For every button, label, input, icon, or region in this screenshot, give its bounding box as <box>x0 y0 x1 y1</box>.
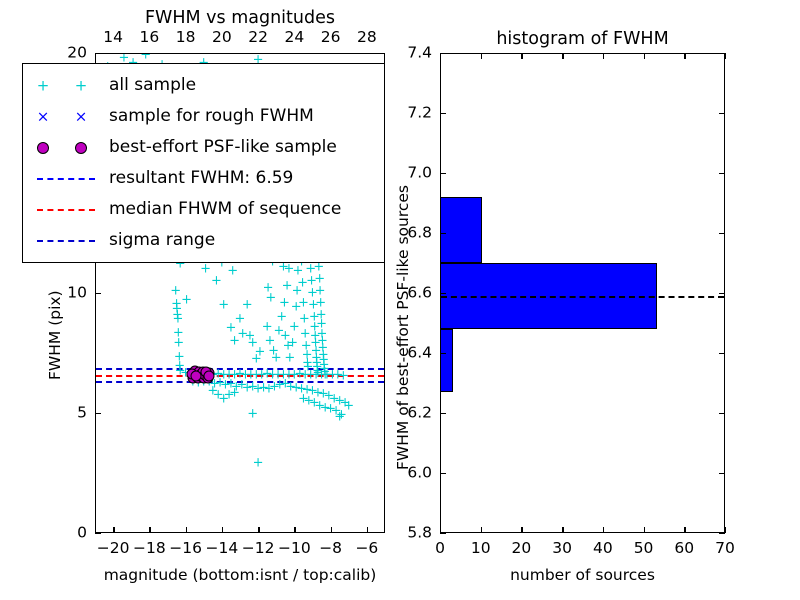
scatter-point: + <box>310 330 321 343</box>
legend-item-0[interactable]: ++all sample <box>23 70 384 101</box>
legend-item-label: best-effort PSF-like sample <box>109 139 337 156</box>
scatter-point: + <box>263 282 274 295</box>
scatter-point: + <box>298 392 309 405</box>
scatter-point: + <box>173 326 184 339</box>
scatter-point: + <box>307 385 318 398</box>
scatter-top-tick-label: 18 <box>176 30 196 46</box>
plus-icon: ++ <box>23 70 109 101</box>
scatter-panel-title: FWHM vs magnitudes <box>95 10 385 28</box>
histogram-y-tick-mark-right <box>719 173 725 174</box>
scatter-point: + <box>334 395 345 408</box>
scatter-point: + <box>280 330 291 343</box>
scatter-point: + <box>310 337 321 350</box>
scatter-point: + <box>229 335 240 348</box>
scatter-top-tick-label: 28 <box>357 30 377 46</box>
histogram-x-tick-label: 10 <box>471 541 491 557</box>
scatter-hline-median-fhwm-of-sequence <box>96 375 384 377</box>
histogram-y-tick-mark-right <box>719 473 725 474</box>
scatter-x-tick-mark <box>222 527 223 533</box>
scatter-y-tick-label: 0 <box>77 525 87 541</box>
scatter-point: + <box>297 277 308 290</box>
scatter-point: + <box>283 263 294 276</box>
scatter-point: + <box>172 308 183 321</box>
dashed-line-icon <box>37 178 95 180</box>
scatter-point: + <box>301 339 312 352</box>
scatter-point: + <box>309 311 320 324</box>
histogram-y-tick-mark <box>440 173 446 174</box>
scatter-point: + <box>264 335 275 348</box>
scatter-point: + <box>298 296 309 309</box>
scatter-x-axis-label: magnitude (bottom:isnt / top:calib) <box>95 568 385 584</box>
scatter-point: + <box>292 284 303 297</box>
scatter-point: + <box>305 263 316 276</box>
histogram-y-tick-mark <box>440 233 446 234</box>
scatter-y-tick-mark <box>95 293 101 294</box>
histogram-y-tick-mark-right <box>719 113 725 114</box>
scatter-point: + <box>274 325 285 338</box>
scatter-top-tick-label: 24 <box>285 30 305 46</box>
histogram-bar <box>441 197 482 263</box>
circle-icon <box>37 142 49 154</box>
scatter-point: + <box>336 409 347 422</box>
scatter-top-tick-label: 20 <box>212 30 232 46</box>
scatter-point: + <box>316 318 327 331</box>
scatter-point: + <box>318 387 329 400</box>
scatter-x-tick-label: −16 <box>169 541 202 557</box>
histogram-x-tick-label: 40 <box>593 541 613 557</box>
legend-item-label: sigma range <box>109 232 215 249</box>
scatter-point: + <box>293 265 304 278</box>
histogram-y-tick-mark-right <box>719 353 725 354</box>
histogram-x-axis-label: number of sources <box>440 568 725 584</box>
scatter-point: + <box>258 381 269 394</box>
scatter-y-tick-label: 5 <box>77 405 87 421</box>
scatter-point: + <box>314 399 325 412</box>
histogram-x-tick-mark-top <box>684 53 685 59</box>
plus-icon: + <box>37 78 50 93</box>
scatter-point: + <box>171 297 182 310</box>
circle-icon <box>75 142 87 154</box>
histogram-x-tick-mark-top <box>481 53 482 59</box>
scatter-top-tick-label: 26 <box>321 30 341 46</box>
scatter-point: + <box>311 351 322 364</box>
scatter-point: + <box>303 395 314 408</box>
scatter-y-tick-mark <box>95 413 101 414</box>
scatter-x-tick-label: −8 <box>319 541 342 557</box>
histogram-x-tick-label: 50 <box>634 541 654 557</box>
legend-item-label: median FHWM of sequence <box>109 201 341 218</box>
histogram-x-tick-mark-top <box>644 53 645 59</box>
scatter-point: + <box>225 321 236 334</box>
histogram-x-tick-mark-top <box>521 53 522 59</box>
scatter-point: + <box>323 390 334 403</box>
histogram-x-tick-label: 70 <box>715 541 735 557</box>
legend-item-label: resultant FWHM: 6.59 <box>109 170 293 187</box>
scatter-top-tick-label: 16 <box>140 30 160 46</box>
scatter-point: + <box>218 299 229 312</box>
scatter-point: + <box>289 320 300 333</box>
scatter-point: + <box>308 299 319 312</box>
scatter-point: + <box>276 311 287 324</box>
histogram-y-axis-label: FWHM of best-effort PSF-like sources <box>396 185 412 470</box>
scatter-x-tick-label: −6 <box>355 541 378 557</box>
scatter-point: + <box>284 351 295 364</box>
histogram-x-tick-label: 20 <box>512 541 532 557</box>
histogram-x-tick-label: 60 <box>674 541 694 557</box>
scatter-point: + <box>229 386 240 399</box>
histogram-y-tick-mark-right <box>719 233 725 234</box>
scatter-x-tick-mark <box>149 527 150 533</box>
scatter-point: + <box>237 327 248 340</box>
dashed-line-icon <box>37 209 95 211</box>
legend-item-5[interactable]: sigma range <box>23 225 384 256</box>
scatter-point: + <box>225 378 236 391</box>
dashdot-line-icon <box>37 240 95 242</box>
histogram-x-tick-mark <box>521 527 522 533</box>
scatter-x-tick-label: −20 <box>97 541 130 557</box>
scatter-point: + <box>343 399 354 412</box>
scatter-point: + <box>235 313 246 326</box>
scatter-point: + <box>251 353 262 366</box>
histogram-x-tick-mark-top <box>562 53 563 59</box>
histogram-y-tick-label: 7.4 <box>407 45 432 61</box>
histogram-y-tick-mark <box>440 113 446 114</box>
scatter-x-tick-mark <box>294 527 295 533</box>
scatter-point: + <box>140 54 151 62</box>
scatter-point: + <box>306 275 317 288</box>
scatter-point: + <box>207 385 218 398</box>
scatter-y-axis-label: FWHM (pix) <box>48 290 64 380</box>
scatter-point: + <box>315 284 326 297</box>
scatter-point: + <box>227 265 238 278</box>
histogram-y-tick-mark <box>440 293 446 294</box>
scatter-point: + <box>299 313 310 326</box>
scatter-point: + <box>309 320 320 333</box>
scatter-point: + <box>291 381 302 394</box>
histogram-panel-title: histogram of FWHM <box>440 31 725 49</box>
scatter-point: + <box>218 392 229 405</box>
scatter-point: + <box>242 299 253 312</box>
scatter-point: + <box>247 408 258 421</box>
scatter-point: + <box>314 272 325 285</box>
scatter-point: + <box>287 337 298 350</box>
scatter-x-tick-label: −10 <box>278 541 311 557</box>
histogram-y-tick-mark <box>440 473 446 474</box>
scatter-point: + <box>174 360 185 373</box>
histogram-x-tick-mark <box>481 527 482 533</box>
histogram-y-tick-mark-right <box>719 413 725 414</box>
scatter-point: + <box>213 389 224 402</box>
histogram-median-line <box>441 296 724 298</box>
histogram-x-tick-mark <box>603 527 604 533</box>
histogram-y-tick-mark-right <box>719 293 725 294</box>
cross-icon: × <box>75 109 88 124</box>
scatter-point: + <box>318 354 329 367</box>
dashdot-line-icon <box>23 225 109 256</box>
scatter-point: + <box>315 296 326 309</box>
histogram-x-tick-mark <box>644 527 645 533</box>
scatter-point: + <box>280 378 291 391</box>
dashed-line-icon <box>23 163 109 194</box>
histogram-bar <box>441 329 453 392</box>
scatter-point: + <box>320 402 331 415</box>
scatter-x-tick-mark <box>113 527 114 533</box>
scatter-y-tick-label: 10 <box>67 285 87 301</box>
scatter-point: + <box>331 404 342 417</box>
legend-item-label: sample for rough FWHM <box>109 108 314 125</box>
scatter-top-tick-label: 22 <box>248 30 268 46</box>
histogram-x-tick-mark <box>684 527 685 533</box>
scatter-point: + <box>279 296 290 309</box>
scatter-point: + <box>317 342 328 355</box>
scatter-point: + <box>253 457 264 470</box>
scatter-point: + <box>200 263 211 276</box>
scatter-x-tick-mark <box>331 527 332 533</box>
scatter-point: + <box>325 403 336 416</box>
scatter-point: + <box>271 351 282 364</box>
scatter-point: + <box>209 378 220 391</box>
scatter-point: + <box>173 313 184 326</box>
histogram-y-tick-mark-right <box>719 533 725 534</box>
scatter-x-tick-label: −18 <box>133 541 166 557</box>
scatter-point: + <box>245 330 256 343</box>
scatter-point: + <box>265 291 276 304</box>
figure-canvas: FWHM vs magnitudes 1416182022242628 ++++… <box>0 0 800 600</box>
scatter-x-tick-label: −14 <box>206 541 239 557</box>
scatter-point: + <box>329 392 340 405</box>
histogram-y-tick-label: 5.8 <box>407 525 432 541</box>
scatter-point: + <box>302 384 313 397</box>
scatter-point: + <box>242 381 253 394</box>
legend-box[interactable]: ++all sample××sample for rough FWHMbest-… <box>22 63 385 263</box>
histogram-y-tick-mark <box>440 533 446 534</box>
plus-icon: + <box>75 78 88 93</box>
histogram-x-tick-mark <box>440 527 441 533</box>
cross-icon: ×× <box>23 101 109 132</box>
histogram-data-area <box>441 54 724 532</box>
scatter-point: + <box>282 279 293 292</box>
scatter-point: + <box>300 327 311 340</box>
histogram-x-tick-mark-top <box>440 53 441 59</box>
scatter-x-tick-mark <box>186 527 187 533</box>
histogram-x-tick-mark-top <box>603 53 604 59</box>
scatter-x-tick-mark <box>367 527 368 533</box>
histogram-x-tick-mark-top <box>725 53 726 59</box>
legend-item-2[interactable]: best-effort PSF-like sample <box>23 132 384 163</box>
scatter-point: + <box>334 410 345 423</box>
histogram-x-tick-mark <box>725 527 726 533</box>
histogram-x-tick-label: 0 <box>435 541 445 557</box>
circle-icon <box>23 132 109 163</box>
scatter-point: + <box>312 386 323 399</box>
scatter-point: + <box>291 301 302 314</box>
scatter-point: + <box>173 337 184 350</box>
scatter-hline-sigma-range-lower <box>96 381 384 383</box>
legend-item-4[interactable]: median FHWM of sequence <box>23 194 384 225</box>
scatter-point: + <box>302 349 313 362</box>
scatter-point: + <box>253 383 264 396</box>
scatter-point: + <box>170 284 181 297</box>
histogram-y-tick-mark <box>440 353 446 354</box>
scatter-point: + <box>211 275 222 288</box>
scatter-point: + <box>296 383 307 396</box>
scatter-hline-sigma-range-upper <box>96 368 384 370</box>
scatter-y-tick-mark <box>95 53 101 54</box>
scatter-point: + <box>309 397 320 410</box>
scatter-point: + <box>311 344 322 357</box>
legend-item-3[interactable]: resultant FWHM: 6.59 <box>23 163 384 194</box>
histogram-x-tick-mark <box>562 527 563 533</box>
legend-item-1[interactable]: ××sample for rough FWHM <box>23 101 384 132</box>
scatter-y-tick-label: 20 <box>67 45 87 61</box>
cross-icon: × <box>37 109 50 124</box>
scatter-point: + <box>316 327 327 340</box>
scatter-point: + <box>307 287 318 300</box>
scatter-point: + <box>171 302 182 315</box>
histogram-y-tick-mark <box>440 413 446 414</box>
scatter-point: + <box>262 320 273 333</box>
scatter-point: + <box>247 337 258 350</box>
scatter-point: + <box>224 389 235 402</box>
histogram-y-tick-label: 7.2 <box>407 105 432 121</box>
scatter-point: + <box>174 350 185 363</box>
scatter-point: + <box>181 294 192 307</box>
histogram-y-tick-label: 7.0 <box>407 165 432 181</box>
scatter-point: + <box>340 397 351 410</box>
scatter-x-tick-mark <box>258 527 259 533</box>
scatter-y-tick-mark <box>95 533 101 534</box>
histogram-x-tick-label: 30 <box>552 541 572 557</box>
scatter-point: + <box>268 344 279 357</box>
legend-item-label: all sample <box>109 77 196 94</box>
scatter-point: + <box>264 383 275 396</box>
scatter-point: + <box>254 345 265 358</box>
scatter-point: + <box>316 308 327 321</box>
scatter-top-tick-label: 14 <box>103 30 123 46</box>
dashed-line-icon <box>23 194 109 225</box>
scatter-point: + <box>283 339 294 352</box>
scatter-point: + <box>317 335 328 348</box>
scatter-x-tick-label: −12 <box>242 541 275 557</box>
scatter-point: + <box>318 349 329 362</box>
